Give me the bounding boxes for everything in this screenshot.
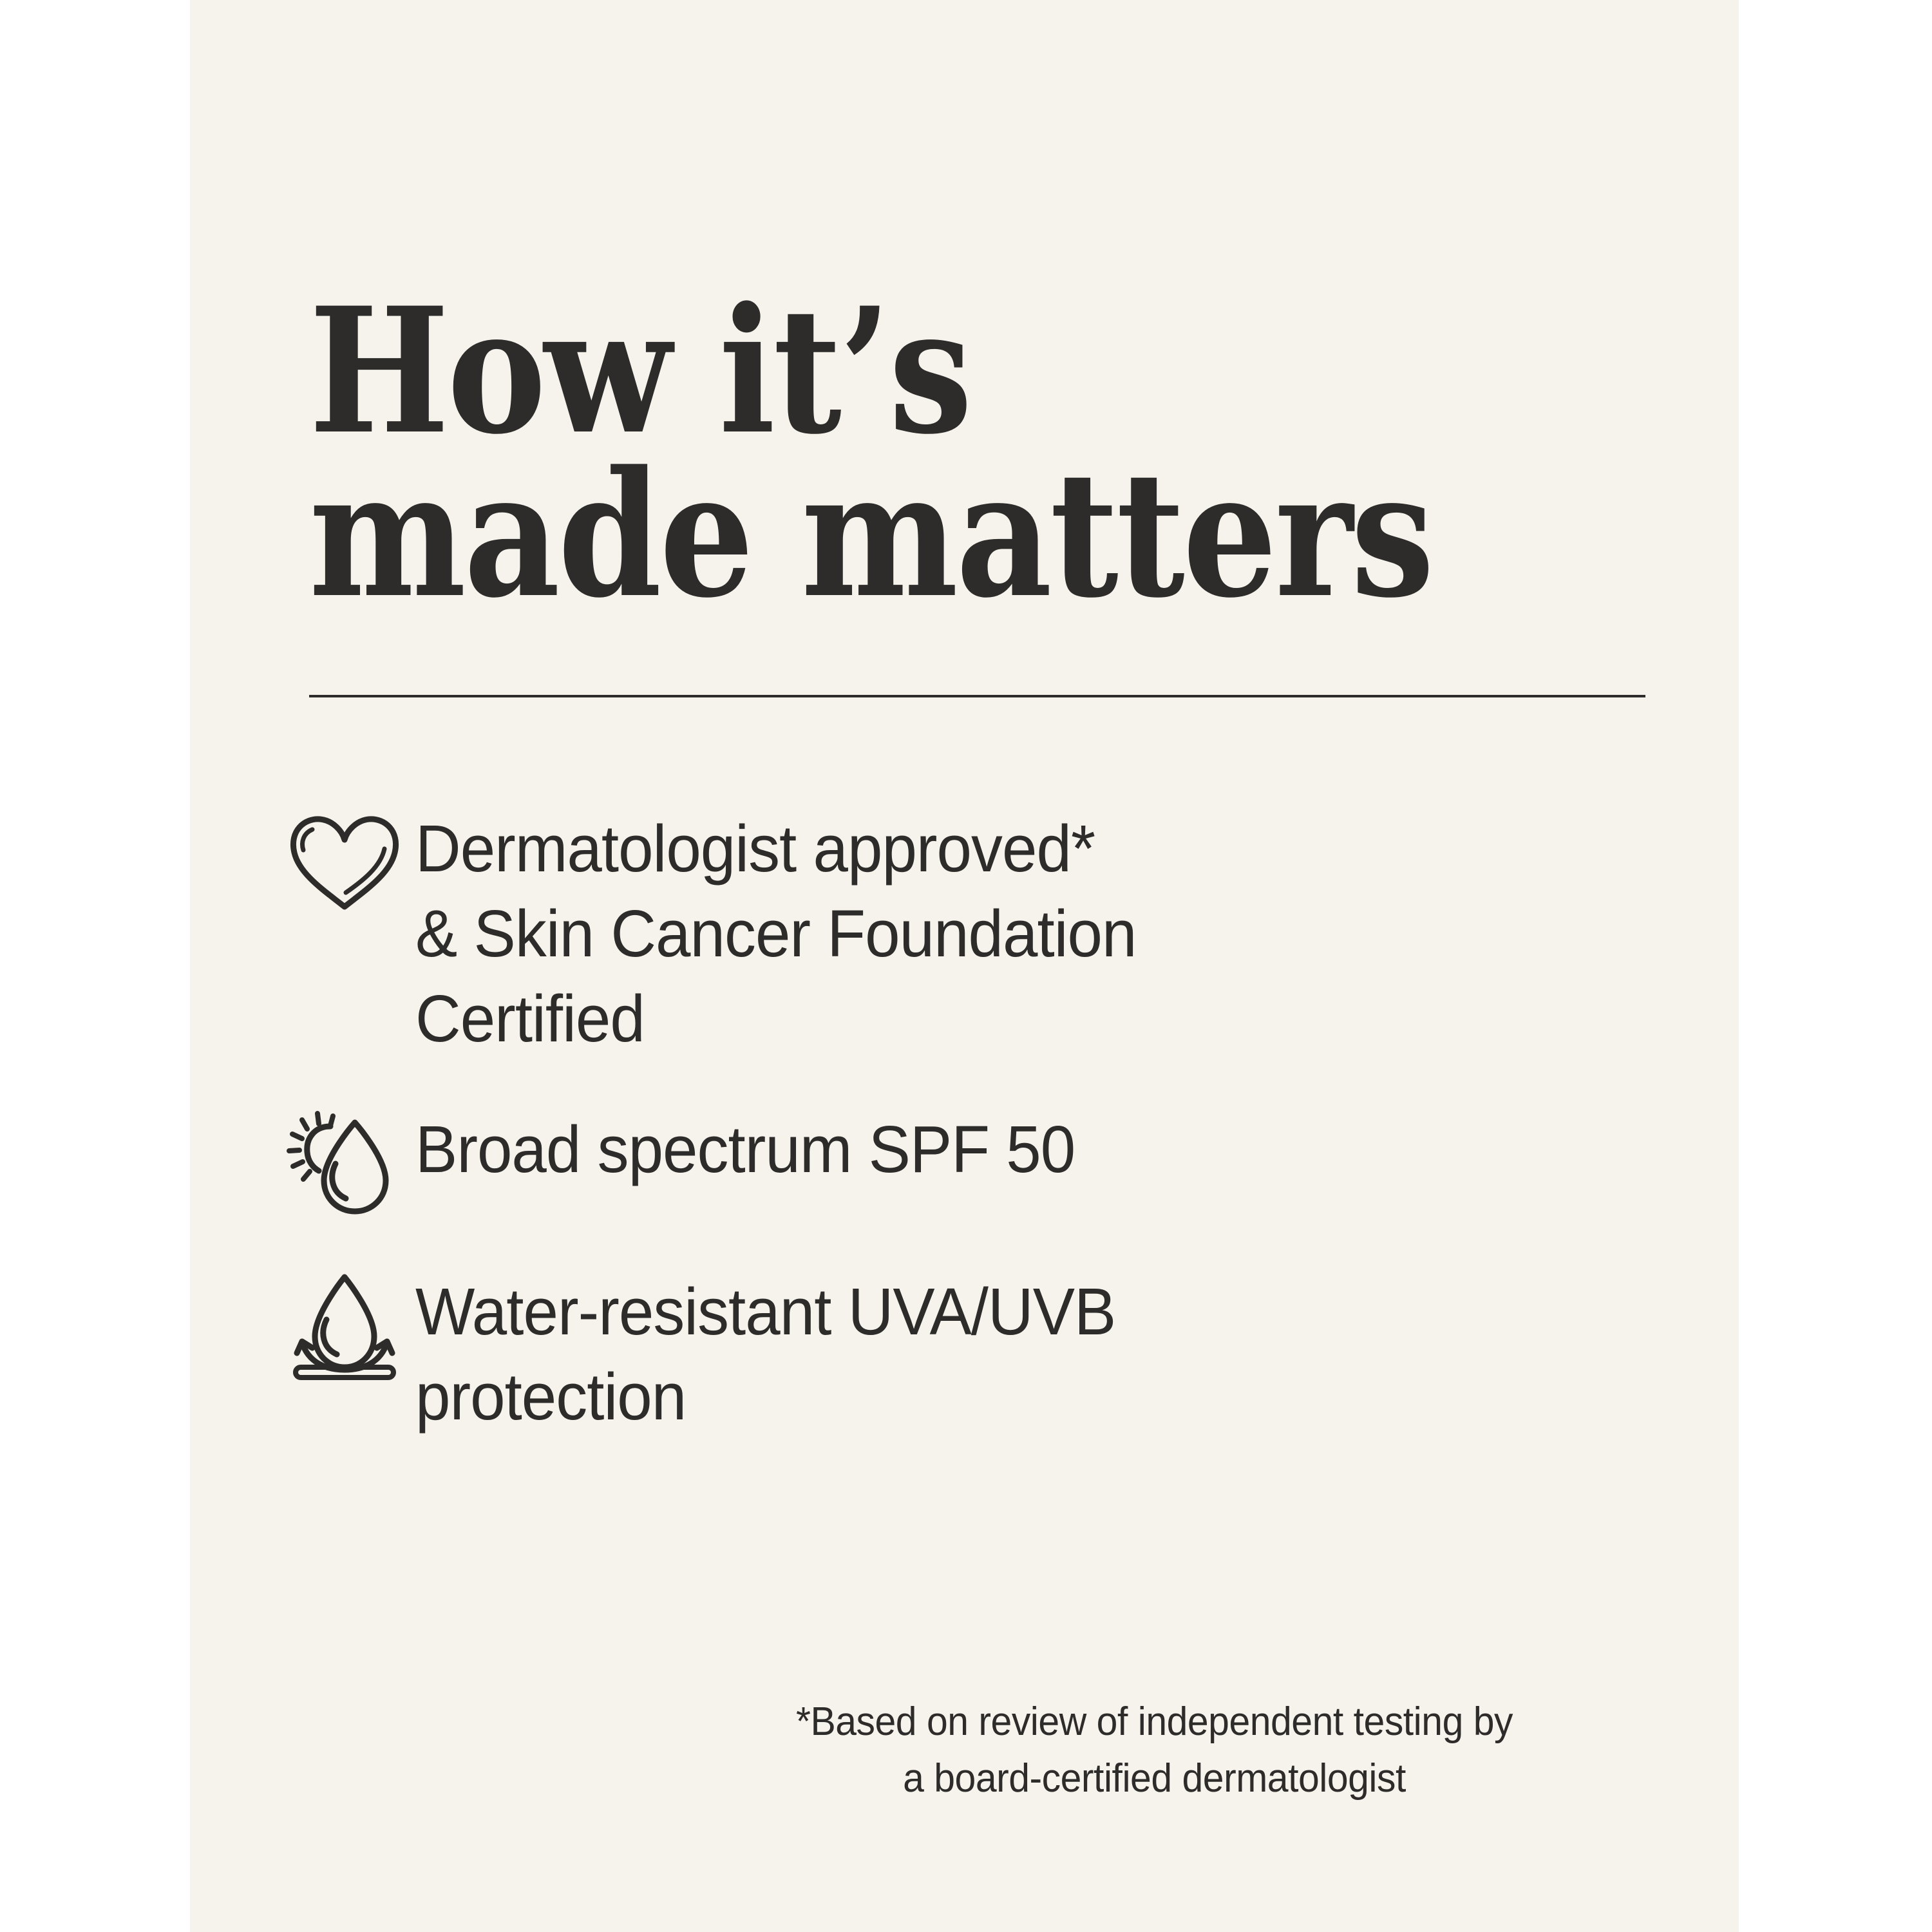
list-item: Water-resistant UVA/UVB protection: [274, 1268, 1690, 1439]
headline-line-1: How it’s: [309, 290, 1483, 454]
sun-droplet-icon: [274, 1106, 415, 1228]
headline-line-2: made matters: [309, 453, 1483, 618]
page-title: How it’smade matters: [309, 290, 1483, 618]
marketing-graphic-canvas: How it’smade matters Dermatologist appro…: [0, 0, 1932, 1932]
water-resistant-droplet-icon: [274, 1268, 415, 1390]
heart-outline-icon: [274, 805, 415, 927]
footnote-disclaimer: *Based on review of independent testing …: [419, 1694, 1890, 1807]
list-item-label: Water-resistant UVA/UVB protection: [415, 1268, 1627, 1439]
list-item-label: Dermatologist approved* & Skin Cancer Fo…: [415, 805, 1627, 1061]
feature-list: Dermatologist approved* & Skin Cancer Fo…: [274, 805, 1690, 1439]
horizontal-divider: [309, 695, 1645, 697]
content-panel: How it’smade matters Dermatologist appro…: [190, 0, 1739, 1932]
list-item-label: Broad spectrum SPF 50: [415, 1106, 1627, 1192]
list-item: Broad spectrum SPF 50: [274, 1106, 1690, 1228]
list-item: Dermatologist approved* & Skin Cancer Fo…: [274, 805, 1690, 1061]
